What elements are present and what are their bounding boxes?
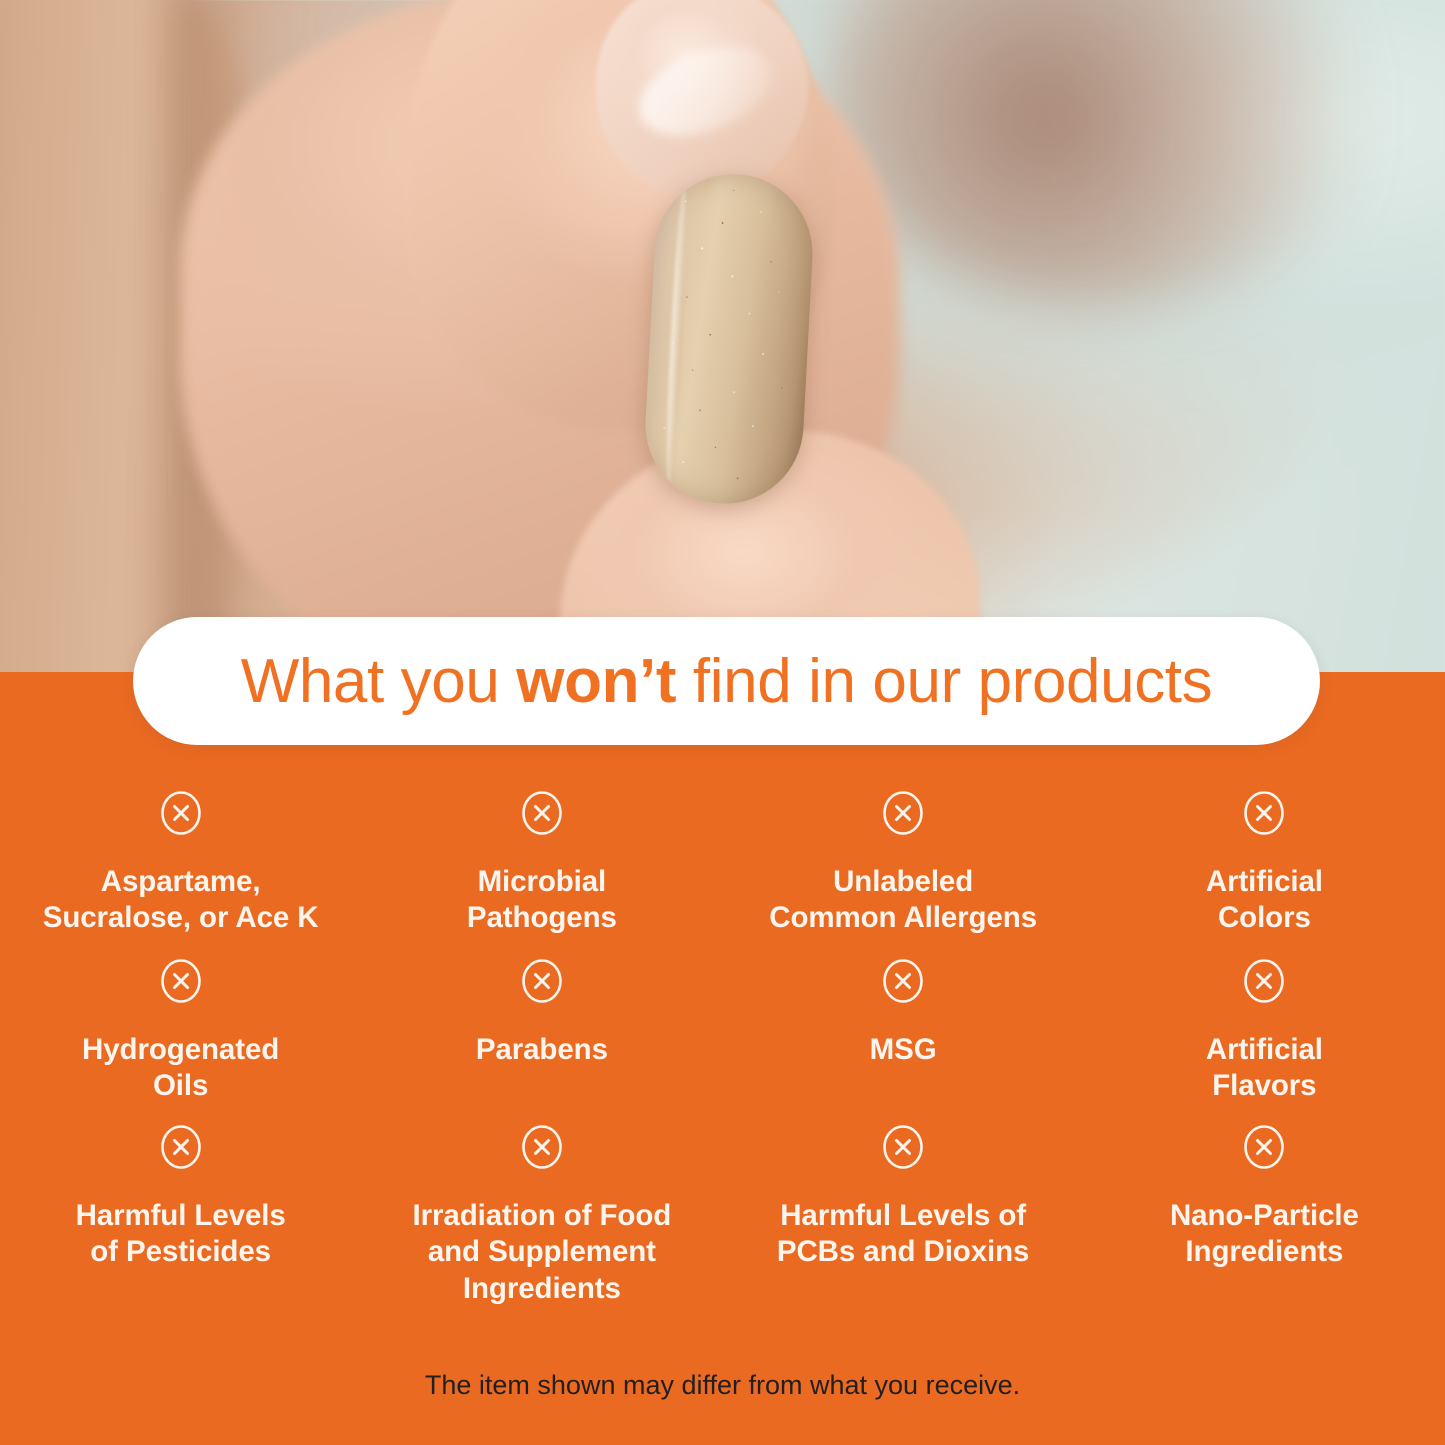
exclusion-label: Hydrogenated Oils: [82, 1032, 279, 1105]
page-title: What you won’t find in our products: [241, 646, 1213, 717]
exclusion-label: Harmful Levels of Pesticides: [76, 1198, 286, 1271]
exclusion-label: Unlabeled Common Allergens: [769, 864, 1037, 937]
circle-x-icon: [882, 1124, 924, 1170]
supplement-tablet: [641, 170, 816, 508]
exclusion-label: MSG: [870, 1032, 937, 1068]
exclusion-item: Parabens: [361, 958, 722, 1124]
circle-x-icon: [160, 1124, 202, 1170]
exclusion-item: Nano-Particle Ingredients: [1084, 1124, 1445, 1304]
tablet-shading: [641, 170, 816, 508]
exclusion-label: Parabens: [476, 1032, 608, 1068]
headline-emphasis: won’t: [516, 647, 676, 716]
exclusion-item: MSG: [723, 958, 1084, 1124]
headline-before: What you: [241, 647, 517, 716]
exclusion-item: Irradiation of Food and Supplement Ingre…: [361, 1124, 722, 1304]
circle-x-icon: [882, 958, 924, 1004]
circle-x-icon: [1243, 790, 1285, 836]
circle-x-icon: [882, 790, 924, 836]
content-panel: Aspartame, Sucralose, or Ace K Microbial…: [0, 672, 1445, 1445]
exclusion-item: Aspartame, Sucralose, or Ace K: [0, 790, 361, 958]
exclusion-label: Irradiation of Food and Supplement Ingre…: [413, 1198, 672, 1307]
exclusion-item: Artificial Colors: [1084, 790, 1445, 958]
exclusions-grid: Aspartame, Sucralose, or Ace K Microbial…: [0, 790, 1445, 1304]
exclusion-label: Nano-Particle Ingredients: [1170, 1198, 1359, 1271]
circle-x-icon: [1243, 958, 1285, 1004]
circle-x-icon: [160, 958, 202, 1004]
exclusion-label: Microbial Pathogens: [467, 864, 617, 937]
exclusion-item: Artificial Flavors: [1084, 958, 1445, 1124]
hero-photo: [0, 0, 1445, 676]
exclusion-label: Harmful Levels of PCBs and Dioxins: [777, 1198, 1029, 1271]
circle-x-icon: [521, 1124, 563, 1170]
headline-after: find in our products: [676, 647, 1212, 716]
exclusions-row: Hydrogenated Oils Parabens: [0, 958, 1445, 1124]
exclusion-label: Artificial Colors: [1206, 864, 1323, 937]
circle-x-icon: [521, 790, 563, 836]
circle-x-icon: [160, 790, 202, 836]
product-infographic: Aspartame, Sucralose, or Ace K Microbial…: [0, 0, 1445, 1445]
exclusion-item: Harmful Levels of Pesticides: [0, 1124, 361, 1304]
exclusion-label: Artificial Flavors: [1206, 1032, 1323, 1105]
exclusion-item: Harmful Levels of PCBs and Dioxins: [723, 1124, 1084, 1304]
disclaimer-text: The item shown may differ from what you …: [0, 1370, 1445, 1401]
headline-card: What you won’t find in our products: [133, 617, 1320, 745]
circle-x-icon: [1243, 1124, 1285, 1170]
exclusions-row: Aspartame, Sucralose, or Ace K Microbial…: [0, 790, 1445, 958]
circle-x-icon: [521, 958, 563, 1004]
exclusion-item: Hydrogenated Oils: [0, 958, 361, 1124]
exclusion-item: Microbial Pathogens: [361, 790, 722, 958]
exclusion-item: Unlabeled Common Allergens: [723, 790, 1084, 958]
exclusion-label: Aspartame, Sucralose, or Ace K: [43, 864, 319, 937]
exclusions-row: Harmful Levels of Pesticides Irradiation…: [0, 1124, 1445, 1304]
